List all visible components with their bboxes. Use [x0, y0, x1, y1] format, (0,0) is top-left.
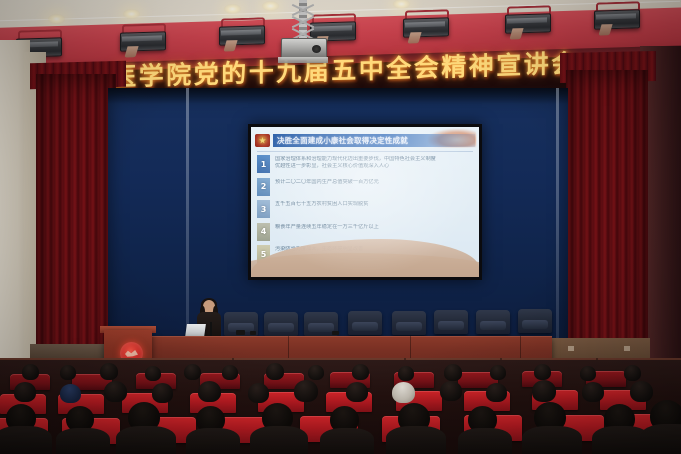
ceiling-projector-icon	[281, 0, 325, 66]
audience-shoulders	[386, 426, 446, 454]
audience-head	[582, 382, 604, 402]
recessed-downlight-icon	[224, 4, 241, 14]
list-item-number: 1	[257, 155, 270, 173]
audience-head	[248, 383, 269, 403]
slide-divider	[257, 151, 473, 152]
audience-head	[22, 364, 39, 380]
slide-title-bar: 决胜全面建成小康社会取得决定性成就	[255, 133, 475, 148]
list-item-number: 4	[257, 223, 270, 241]
audience-shoulders	[0, 426, 52, 454]
recessed-downlight-icon	[262, 1, 279, 11]
list-item-text: 国家治理体系和治理能力现代化迈出重要步伐，中国特色社会主义制度 优越性进一步彰显…	[275, 155, 473, 170]
audience-area	[0, 360, 681, 454]
stage-chair	[434, 310, 468, 334]
audience-shoulders	[250, 426, 308, 454]
stage-chair	[392, 311, 426, 335]
list-item-number: 2	[257, 178, 270, 196]
list-item-line: 粮食年产量连续五年稳定在一万三千亿斤以上	[275, 224, 473, 231]
audience-shoulders	[186, 428, 240, 454]
backdrop-top-shadow	[108, 88, 568, 104]
audience-head	[444, 364, 462, 381]
audience-head	[104, 381, 127, 402]
audience-shoulders	[522, 426, 582, 454]
audience-head	[60, 384, 81, 403]
right-curtain	[566, 70, 648, 376]
stage-skirt-vent	[568, 346, 574, 351]
stage-spotlight-icon	[505, 5, 549, 32]
stage-spotlight-icon	[120, 23, 164, 50]
slide-wave-graphic-2	[251, 253, 479, 277]
stage-spotlight-icon	[403, 9, 447, 36]
audience-shoulders	[320, 428, 374, 454]
recessed-downlight-icon	[48, 14, 65, 24]
audience-head	[630, 381, 653, 402]
list-item-line: 国家治理体系和治理能力现代化迈出重要步伐，中国特色社会主义制度	[275, 156, 473, 163]
stage-spotlight-icon	[594, 1, 638, 28]
audience-head	[352, 364, 369, 380]
slide-bullet-list: 1 国家治理体系和治理能力现代化迈出重要步伐，中国特色社会主义制度 优越性进一步…	[257, 155, 473, 243]
list-item-line: 优越性进一步彰显，社会主义核心价值观深入人心	[275, 163, 473, 170]
stage-chair	[264, 312, 298, 336]
slide-canvas: 决胜全面建成小康社会取得决定性成就 1 国家治理体系和治理能力现代化迈出重要步伐…	[251, 127, 479, 277]
slide-title-text: 决胜全面建成小康社会取得决定性成就	[277, 135, 408, 146]
list-item-number: 3	[257, 200, 270, 218]
audience-head	[198, 381, 221, 402]
list-item-text: 五千五百七十五万农村贫困人口实现脱贫	[275, 200, 473, 208]
stage-skirt-vent	[624, 346, 630, 351]
list-item-text: 粮食年产量连续五年稳定在一万三千亿斤以上	[275, 223, 473, 231]
projection-screen: 决胜全面建成小康社会取得决定性成就 1 国家治理体系和治理能力现代化迈出重要步伐…	[248, 124, 482, 280]
audience-head	[532, 380, 556, 402]
audience-head	[440, 381, 462, 401]
list-item-text: 预计二〇二〇年国内生产总值突破一百万亿元	[275, 178, 473, 186]
audience-head	[580, 366, 596, 381]
audience-head	[100, 363, 118, 380]
audience-head	[184, 364, 201, 380]
audience-head	[392, 382, 415, 403]
audience-shoulders	[56, 428, 110, 454]
list-item-line: 预计二〇二〇年国内生产总值突破一百万亿元	[275, 179, 473, 186]
list-item: 3 五千五百七十五万农村贫困人口实现脱贫	[257, 200, 473, 220]
stage-chair	[518, 309, 552, 333]
stage-chair	[476, 310, 510, 334]
audience-head	[534, 364, 551, 380]
audience-head	[294, 380, 318, 402]
audience-head	[624, 365, 641, 381]
party-emblem-icon	[255, 134, 270, 147]
audience-head	[346, 382, 368, 402]
table-equipment	[236, 330, 245, 335]
audience-head	[398, 366, 414, 381]
audience-head	[490, 365, 506, 380]
backdrop-seam	[186, 88, 189, 356]
list-item: 2 预计二〇二〇年国内生产总值突破一百万亿元	[257, 178, 473, 198]
audience-head	[152, 383, 173, 403]
audience-shoulders	[116, 426, 176, 454]
list-item: 1 国家治理体系和治理能力现代化迈出重要步伐，中国特色社会主义制度 优越性进一步…	[257, 155, 473, 175]
audience-shoulders	[458, 428, 512, 454]
audience-head	[145, 366, 161, 381]
audience-head	[266, 363, 284, 380]
audience-head	[60, 365, 76, 380]
list-item-line: 五千五百七十五万农村贫困人口实现脱贫	[275, 201, 473, 208]
audience-head	[308, 365, 324, 380]
audience-head	[486, 383, 507, 402]
table-equipment	[250, 331, 256, 335]
table-equipment	[332, 331, 339, 335]
stage-chair	[348, 311, 382, 335]
backdrop-seam	[556, 88, 559, 356]
slide-title-banner: 决胜全面建成小康社会取得决定性成就	[273, 134, 475, 147]
audience-shoulders	[640, 424, 681, 454]
recessed-downlight-icon	[123, 9, 140, 19]
auditorium-photo: 医学院党的十九届五中全会精神宣讲会	[0, 0, 681, 454]
stage-spotlight-icon	[219, 17, 263, 44]
audience-head	[14, 382, 36, 402]
audience-head	[222, 365, 238, 380]
